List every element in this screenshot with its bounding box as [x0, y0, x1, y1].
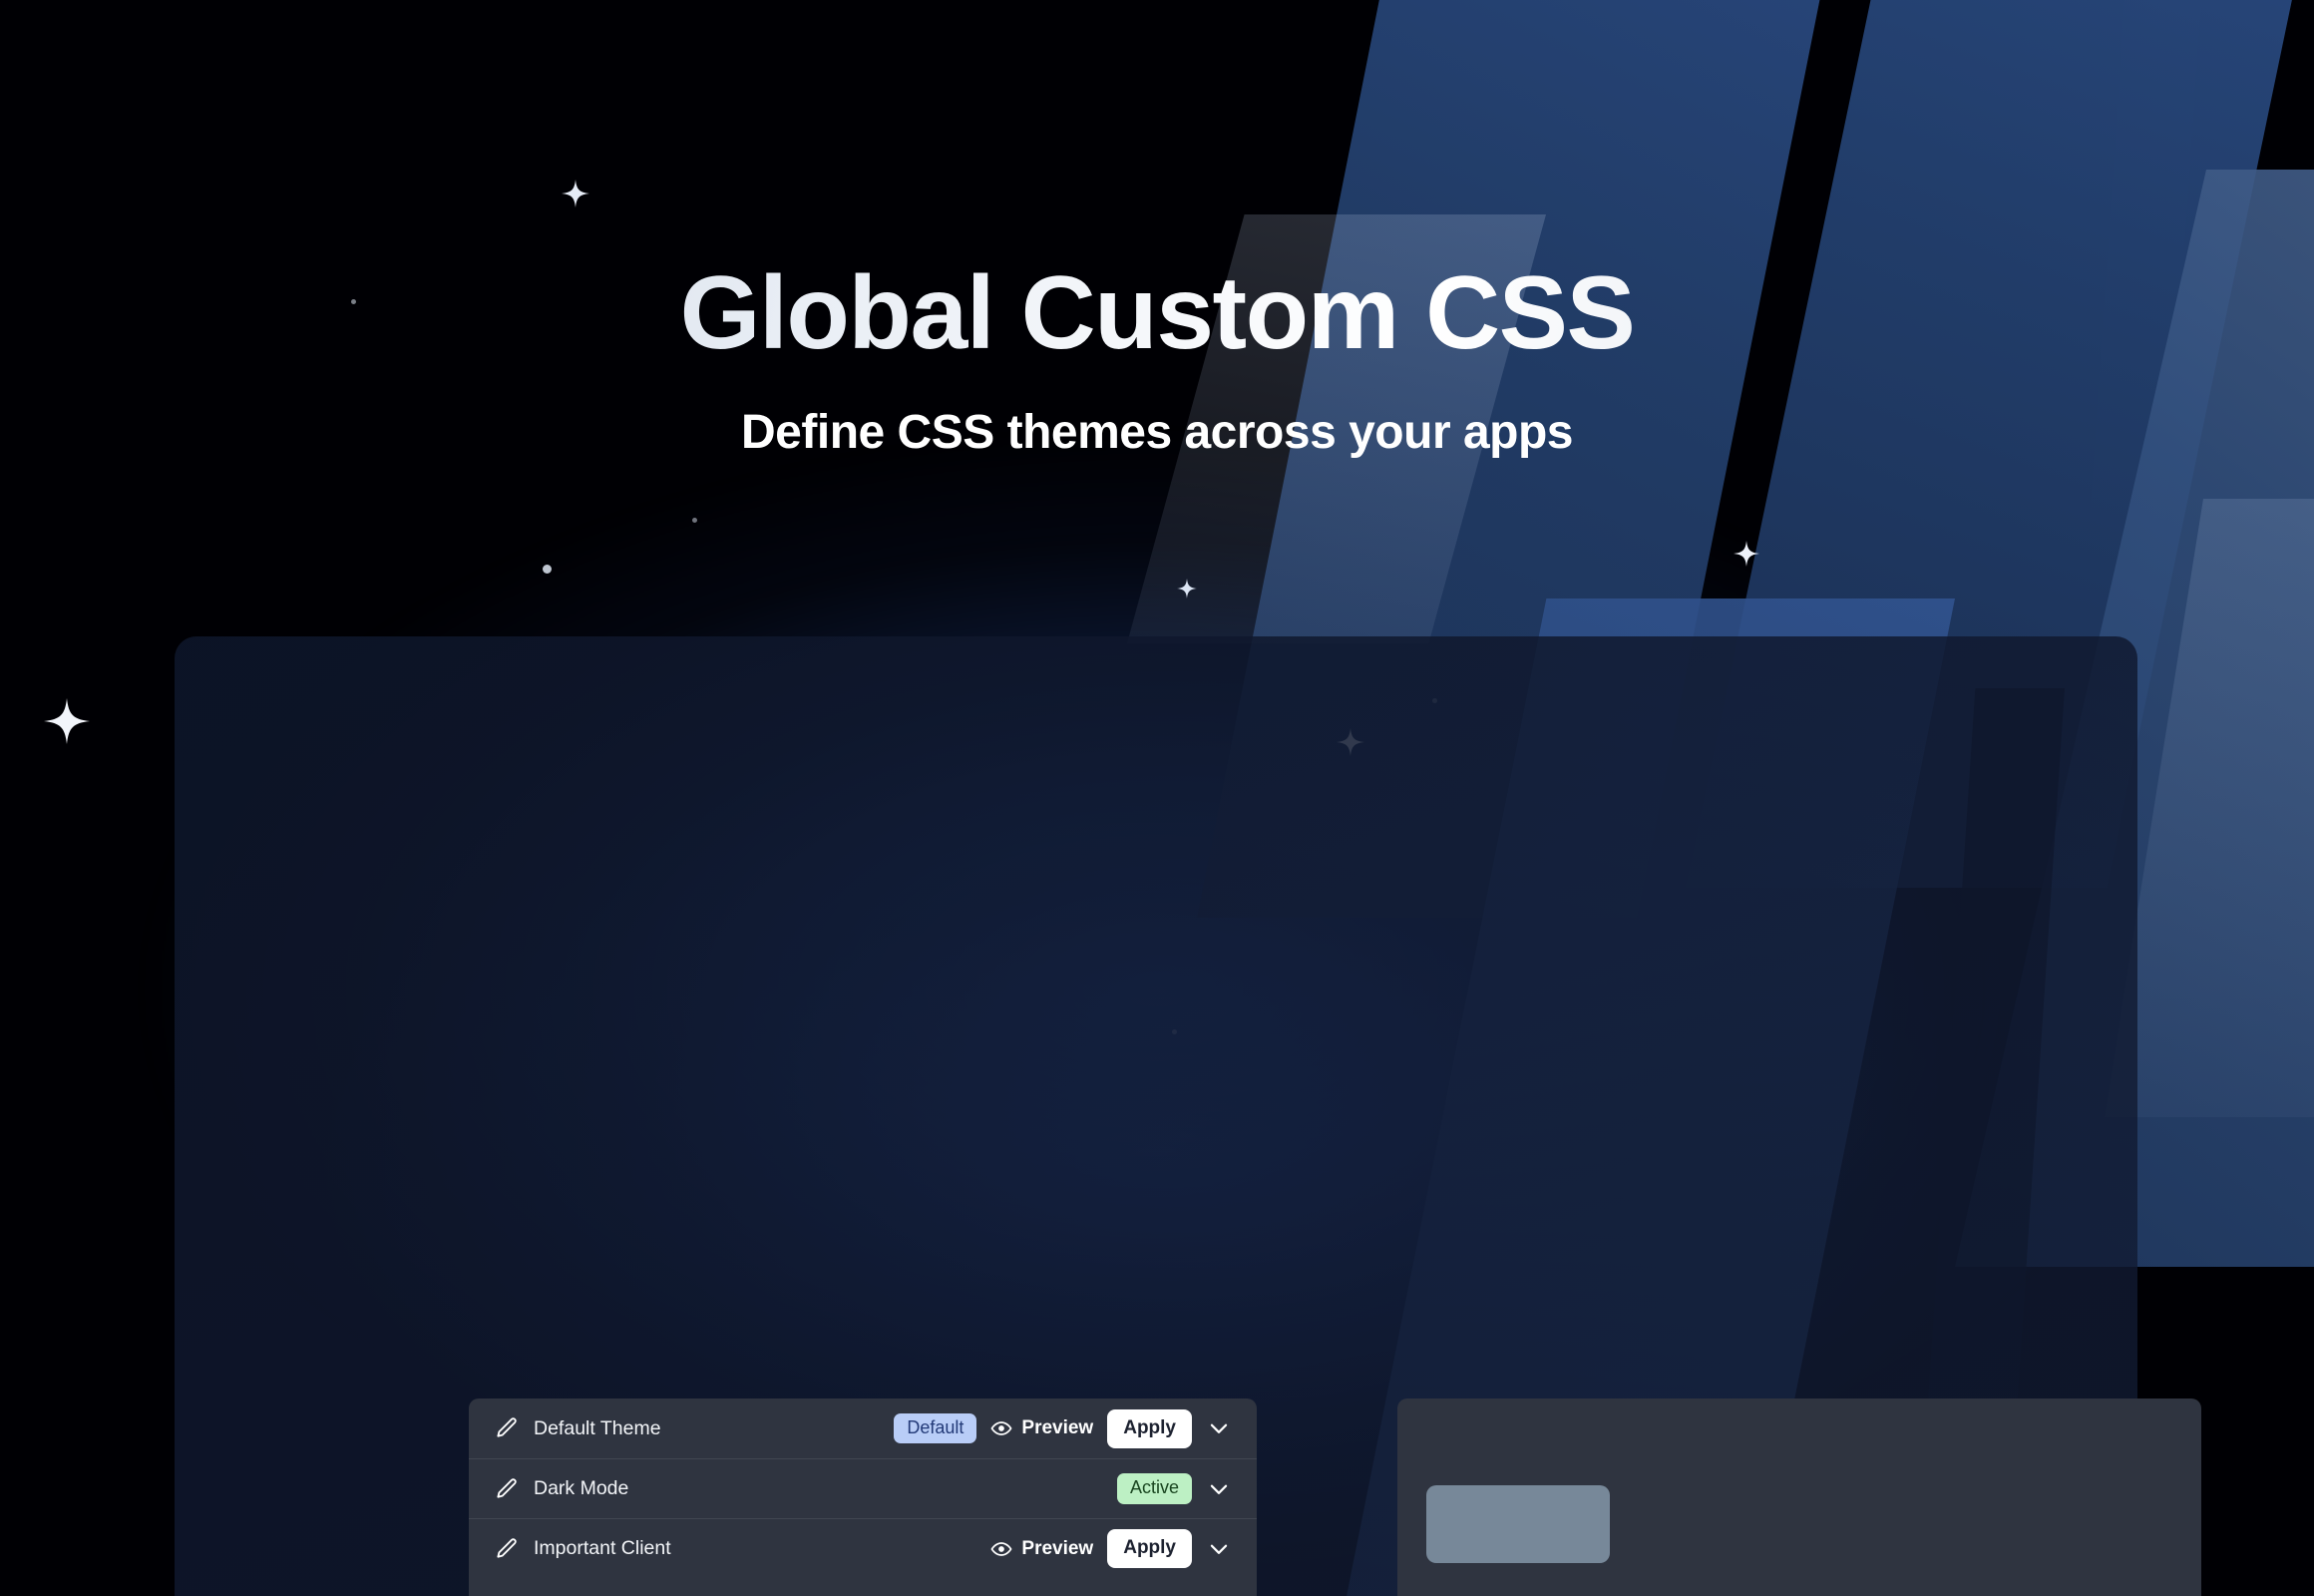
preview-button-label: Preview [1021, 1417, 1093, 1439]
pencil-icon[interactable] [494, 1536, 520, 1562]
preview-button-label: Preview [1021, 1538, 1093, 1560]
hero-section: Global Custom CSS Define CSS themes acro… [0, 0, 2314, 457]
apply-button[interactable]: Apply [1107, 1529, 1192, 1568]
sparkle-icon [1177, 579, 1197, 598]
page-subtitle: Define CSS themes across your apps [0, 409, 2314, 457]
theme-name: Important Client [534, 1537, 671, 1560]
preview-button[interactable]: Preview [990, 1417, 1093, 1439]
preview-button-shape [1426, 1485, 1610, 1563]
eye-icon [990, 1538, 1012, 1560]
preview-button[interactable]: Preview [990, 1538, 1093, 1560]
status-badge-default: Default [894, 1413, 976, 1444]
theme-name: Default Theme [534, 1417, 661, 1440]
theme-name: Dark Mode [534, 1477, 628, 1500]
page-title: Global Custom CSS [0, 261, 2314, 365]
apply-button[interactable]: Apply [1107, 1409, 1192, 1448]
star-dot [692, 518, 697, 523]
eye-icon [990, 1417, 1012, 1439]
pencil-icon[interactable] [494, 1415, 520, 1441]
chevron-down-icon[interactable] [1206, 1536, 1232, 1562]
theme-list-row[interactable]: Default Theme Default Preview Apply [469, 1398, 1257, 1458]
star-dot [543, 565, 552, 574]
sparkle-icon [44, 698, 90, 744]
theme-list-row[interactable]: Important Client Preview Apply [469, 1518, 1257, 1578]
theme-list-row[interactable]: Dark Mode Active [469, 1458, 1257, 1518]
css-editor-panel: Default Theme Default Preview Apply [469, 1398, 1257, 1596]
sparkle-icon [1734, 541, 1759, 567]
chevron-down-icon[interactable] [1206, 1476, 1232, 1502]
app-preview-panel [1397, 1398, 2201, 1596]
pencil-icon[interactable] [494, 1476, 520, 1502]
app-window: Default Theme Default Preview Apply [175, 636, 2137, 1596]
chevron-down-icon[interactable] [1206, 1415, 1232, 1441]
status-badge-active: Active [1117, 1473, 1192, 1504]
